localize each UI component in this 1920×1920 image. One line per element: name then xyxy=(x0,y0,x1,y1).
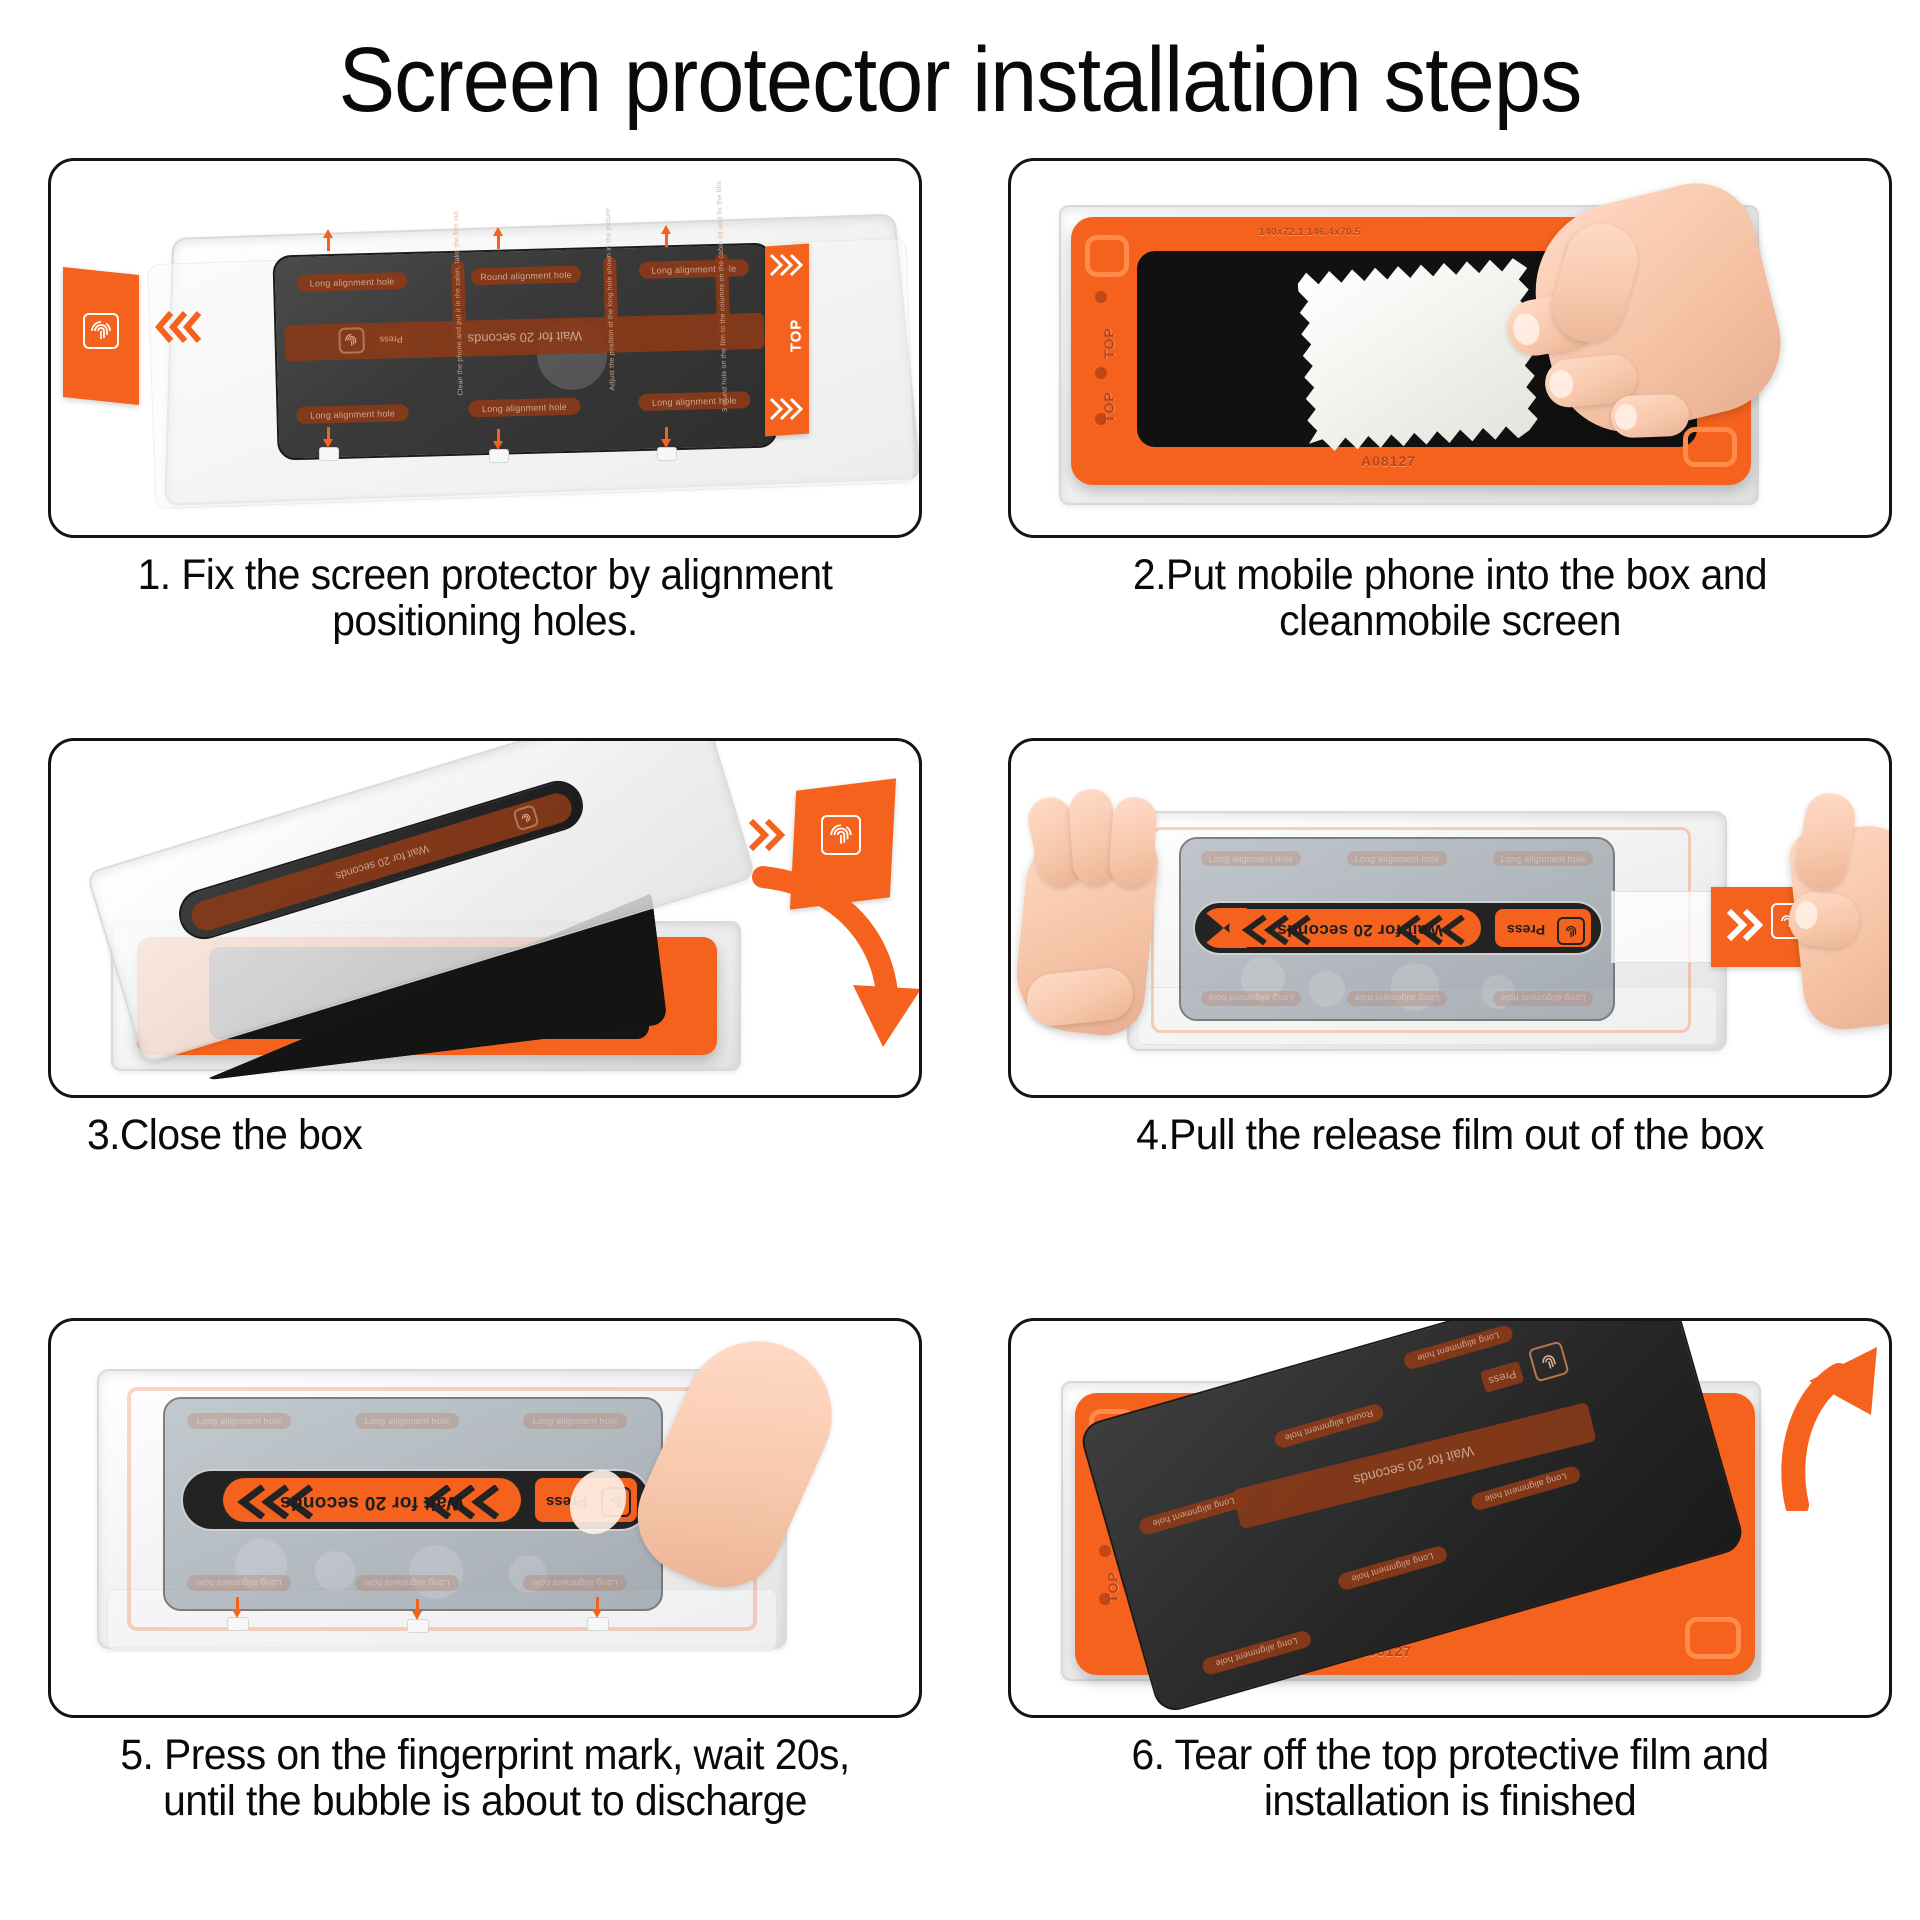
arrow-stem xyxy=(327,237,330,251)
wait-label: Wait for 20 seconds xyxy=(181,1491,605,1513)
step-5-caption-line1: 5. Press on the fingerprint mark, wait 2… xyxy=(70,1732,900,1778)
step-2: TOP TOP 140x72.1 146.4x70.5 A08127 xyxy=(960,150,1920,730)
press-label-bg: Press xyxy=(1480,1361,1525,1393)
alignment-post xyxy=(587,1617,609,1631)
step-1-scene: Long alignment hole Round alignment hole… xyxy=(51,161,919,535)
arrow-icon xyxy=(741,861,922,1061)
step-3-panel: A08127 Wait for 20 seconds xyxy=(48,738,922,1098)
arrow-stem xyxy=(497,235,500,249)
label-long-alignment-hole: Long alignment hole xyxy=(187,1413,291,1429)
alignment-post xyxy=(407,1619,429,1633)
alignment-post xyxy=(657,447,677,461)
label-long-alignment-hole: Long alignment hole xyxy=(638,391,750,411)
finger xyxy=(1108,796,1158,889)
label-long-alignment-hole: Long alignment hole xyxy=(523,1575,627,1591)
arrow-stem xyxy=(665,233,668,247)
label-long-alignment-hole: Long alignment hole xyxy=(1347,851,1447,866)
bubble xyxy=(315,1551,355,1591)
top-label: TOP xyxy=(1105,1571,1121,1603)
step-4: Long alignment hole Long alignment hole … xyxy=(960,730,1920,1310)
label-long-alignment-hole: Long alignment hole xyxy=(355,1413,459,1429)
alignment-post xyxy=(319,447,339,461)
arrow-icon xyxy=(493,441,503,450)
note-left: Clean the phone and put it in the cabin,… xyxy=(451,260,466,346)
chevron-icon xyxy=(767,253,807,277)
step-1-caption: 1. Fix the screen protector by alignment… xyxy=(70,552,900,644)
label-long-alignment-hole: Long alignment hole xyxy=(1201,851,1301,866)
tray-handle-slot xyxy=(1085,235,1129,277)
arrow-icon xyxy=(493,227,503,236)
step-3: A08127 Wait for 20 seconds xyxy=(0,730,960,1310)
step-6-caption-line1: 6. Tear off the top protective film and xyxy=(1030,1732,1870,1778)
label-long-alignment-hole: Long alignment hole xyxy=(1200,1629,1312,1676)
chevron-icon xyxy=(767,397,807,421)
press-label-bg: Press xyxy=(374,328,409,351)
label-long-alignment-hole: Long alignment hole xyxy=(639,259,749,279)
chevron-icon xyxy=(155,309,211,345)
step-5-caption: 5. Press on the fingerprint mark, wait 2… xyxy=(70,1732,900,1824)
label-long-alignment-hole: Long alignment hole xyxy=(1336,1544,1448,1591)
step-5: Long alignment hole Long alignment hole … xyxy=(0,1310,960,1920)
model-code: A08127 xyxy=(1361,453,1416,469)
tray-handle-slot xyxy=(1683,427,1737,467)
label-long-alignment-hole: Long alignment hole xyxy=(296,404,408,424)
step-3-caption-line1: 3.Close the box xyxy=(87,1112,900,1158)
tray-hole xyxy=(1095,291,1107,303)
step-6-scene: TOP TOP 140x72.1 146.4x70.5 A08127 TOP xyxy=(1011,1321,1889,1715)
fingerprint-icon xyxy=(338,327,365,354)
arrow-icon xyxy=(412,1611,422,1620)
label-long-alignment-hole: Long alignment hole xyxy=(297,272,407,292)
press-label: Press xyxy=(1507,922,1545,938)
step-5-panel: Long alignment hole Long alignment hole … xyxy=(48,1318,922,1718)
step-1: Long alignment hole Round alignment hole… xyxy=(0,150,960,730)
step-5-caption-line2: until the bubble is about to discharge xyxy=(70,1778,900,1824)
step-2-panel: TOP TOP 140x72.1 146.4x70.5 A08127 xyxy=(1008,158,1892,538)
arrow-icon xyxy=(661,225,671,234)
fingernail xyxy=(1511,311,1542,347)
step-2-caption-line1: 2.Put mobile phone into the box and xyxy=(1030,552,1870,598)
wait-label: Wait for 20 seconds xyxy=(467,328,582,346)
label-long-alignment-hole: Long alignment hole xyxy=(468,398,580,418)
step-2-scene: TOP TOP 140x72.1 146.4x70.5 A08127 xyxy=(1011,161,1889,535)
step-4-caption: 4.Pull the release film out of the box xyxy=(1030,1112,1870,1158)
cleaning-cloth xyxy=(1297,257,1539,453)
label-round-alignment-hole: Round alignment hole xyxy=(1273,1402,1385,1449)
top-label: TOP xyxy=(1101,391,1117,423)
chevron-icon xyxy=(1723,907,1767,943)
wait-band: Wait for 20 seconds xyxy=(1232,1402,1597,1529)
arrow-icon xyxy=(592,1609,602,1618)
top-label: TOP xyxy=(787,319,804,353)
label-long-alignment-hole: Long alignment hole xyxy=(1402,1324,1514,1371)
step-6-panel: TOP TOP 140x72.1 146.4x70.5 A08127 TOP xyxy=(1008,1318,1892,1718)
label-long-alignment-hole: Long alignment hole xyxy=(1347,991,1447,1006)
label-long-alignment-hole: Long alignment hole xyxy=(1493,851,1593,866)
label-round-alignment-hole: Round alignment hole xyxy=(471,266,581,286)
step-5-scene: Long alignment hole Long alignment hole … xyxy=(51,1321,919,1715)
fingernail xyxy=(1548,369,1575,399)
note-mid: Adjust the position of the long hole sho… xyxy=(603,256,618,342)
steps-grid: Long alignment hole Round alignment hole… xyxy=(0,150,1920,1920)
step-4-scene: Long alignment hole Long alignment hole … xyxy=(1011,741,1889,1095)
alignment-post xyxy=(489,449,509,463)
step-3-caption: 3.Close the box xyxy=(70,1112,900,1158)
tray-hole xyxy=(1099,1545,1111,1557)
step-4-panel: Long alignment hole Long alignment hole … xyxy=(1008,738,1892,1098)
dimensions-label: 140x72.1 146.4x70.5 xyxy=(1259,227,1361,238)
step-2-caption: 2.Put mobile phone into the box and clea… xyxy=(1030,552,1870,644)
screen-protector-glass: Long alignment hole Round alignment hole… xyxy=(272,242,777,460)
arrow-icon xyxy=(1759,1341,1892,1511)
top-label: TOP xyxy=(1101,327,1117,359)
step-1-caption-line1: 1. Fix the screen protector by alignment xyxy=(70,552,900,598)
label-long-alignment-hole: Long alignment hole xyxy=(1493,991,1593,1006)
wait-bar: Wait for 20 seconds Press xyxy=(1193,901,1603,955)
label-long-alignment-hole: Long alignment hole xyxy=(187,1575,291,1591)
wait-label: Wait for 20 seconds xyxy=(1352,1443,1475,1488)
note-right: 3 round hole on the film to the columns … xyxy=(715,253,730,339)
press-label: Press xyxy=(1487,1367,1517,1386)
tray-hole xyxy=(1095,367,1107,379)
fingernail xyxy=(1794,900,1819,930)
finger xyxy=(1610,394,1689,439)
label-long-alignment-hole: Long alignment hole xyxy=(1201,991,1301,1006)
bubble xyxy=(1309,971,1345,1007)
step-6-caption-line2: installation is finished xyxy=(1030,1778,1870,1824)
fingerprint-icon xyxy=(83,313,119,349)
infographic-page: Screen protector installation steps Long… xyxy=(0,0,1920,1920)
step-4-caption-line1: 4.Pull the release film out of the box xyxy=(1030,1112,1870,1158)
fingerprint-icon xyxy=(1557,917,1585,945)
label-long-alignment-hole: Long alignment hole xyxy=(523,1413,627,1429)
label-long-alignment-hole: Long alignment hole xyxy=(355,1575,459,1591)
arrow-icon xyxy=(661,439,671,448)
press-label: Press xyxy=(380,334,403,345)
tray-handle-slot xyxy=(1685,1617,1741,1659)
step-3-scene: A08127 Wait for 20 seconds xyxy=(51,741,919,1095)
arrow-icon xyxy=(323,229,333,238)
step-2-caption-line2: cleanmobile screen xyxy=(1030,598,1870,644)
fingernail xyxy=(1615,403,1638,430)
fingerprint-icon xyxy=(1528,1340,1570,1382)
step-6-caption: 6. Tear off the top protective film and … xyxy=(1030,1732,1870,1824)
fingerprint-icon xyxy=(821,815,861,855)
arrow-icon xyxy=(323,439,333,448)
page-title: Screen protector installation steps xyxy=(77,0,1843,126)
step-1-panel: Long alignment hole Round alignment hole… xyxy=(48,158,922,538)
arrow-icon xyxy=(232,1609,242,1618)
alignment-post xyxy=(227,1617,249,1631)
step-6: TOP TOP 140x72.1 146.4x70.5 A08127 TOP xyxy=(960,1310,1920,1920)
step-1-caption-line2: positioning holes. xyxy=(70,598,900,644)
chevron-icon xyxy=(741,817,797,853)
label-long-alignment-hole: Long alignment hole xyxy=(1470,1465,1582,1512)
